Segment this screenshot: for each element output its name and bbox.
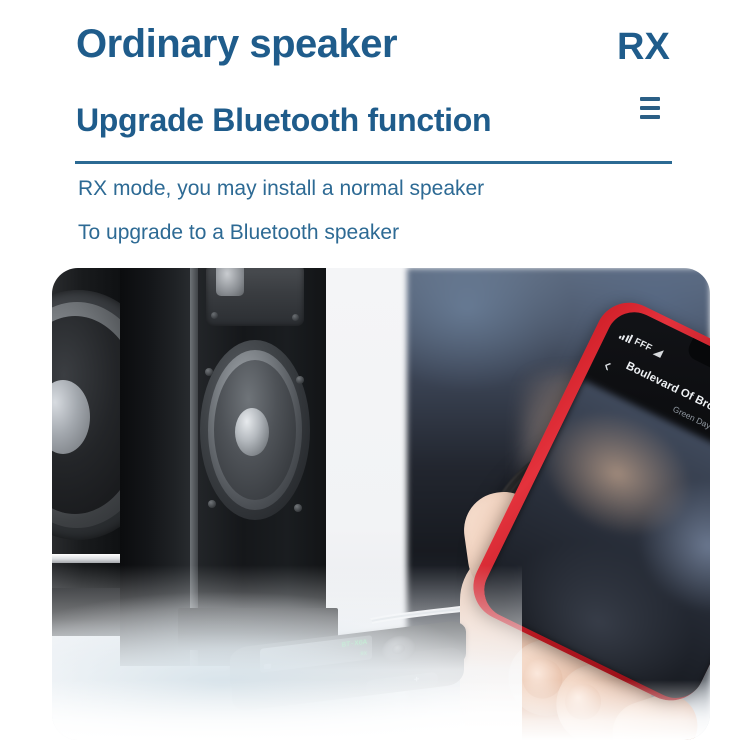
center-speaker-tweeter-dome: [216, 268, 244, 296]
hamburger-icon[interactable]: [640, 97, 660, 119]
wifi-icon: ◢: [653, 346, 665, 358]
center-speaker-woofer-screw: [205, 368, 213, 376]
chevron-left-icon[interactable]: ‹: [601, 355, 615, 375]
page-subtitle: Upgrade Bluetooth function: [76, 102, 491, 139]
page-title: Ordinary speaker: [76, 22, 397, 67]
body-line-1: RX mode, you may install a normal speake…: [78, 177, 484, 201]
signal-dots-icon: [619, 330, 634, 343]
hamburger-bar-1: [640, 97, 660, 101]
center-speaker-woofer-screw: [208, 500, 216, 508]
product-page: Ordinary speaker RX Upgrade Bluetooth fu…: [0, 0, 750, 750]
center-speaker-dust-cap: [235, 408, 269, 456]
hamburger-bar-3: [640, 115, 660, 119]
center-speaker-tweeter-screw: [292, 314, 299, 321]
carrier-label: FFF: [632, 336, 653, 354]
floor-highlight: [52, 565, 522, 740]
center-speaker-woofer-screw: [294, 504, 302, 512]
center-speaker-woofer-screw: [296, 376, 304, 384]
product-photo: FFF ◢ ⏱ 100% ‹ Boulevard Of Broken Dream…: [52, 268, 710, 740]
finger-nail: [561, 679, 606, 724]
hamburger-bar-2: [640, 106, 660, 110]
center-speaker-tweeter-screw: [211, 312, 218, 319]
header-divider: [75, 161, 672, 164]
mode-label-rx: RX: [617, 26, 670, 69]
body-line-2: To upgrade to a Bluetooth speaker: [78, 221, 399, 245]
